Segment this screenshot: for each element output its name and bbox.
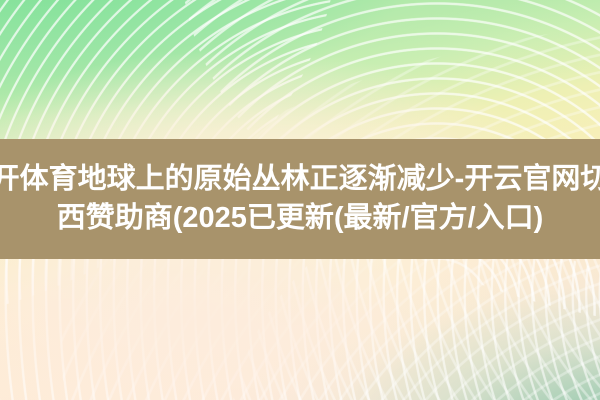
caption-band: 云开体育地球上的原始丛林正逐渐减少-开云官网切尔 西赞助商(2025已更新(最新…: [0, 139, 600, 259]
caption-line-2: 西赞助商(2025已更新(最新/官方/入口): [0, 199, 600, 238]
banner-caption: 云开体育地球上的原始丛林正逐渐减少-开云官网切尔 西赞助商(2025已更新(最新…: [0, 160, 600, 238]
caption-line-1: 云开体育地球上的原始丛林正逐渐减少-开云官网切尔: [0, 160, 600, 199]
promo-banner-image: 云开体育地球上的原始丛林正逐渐减少-开云官网切尔 西赞助商(2025已更新(最新…: [0, 0, 600, 400]
